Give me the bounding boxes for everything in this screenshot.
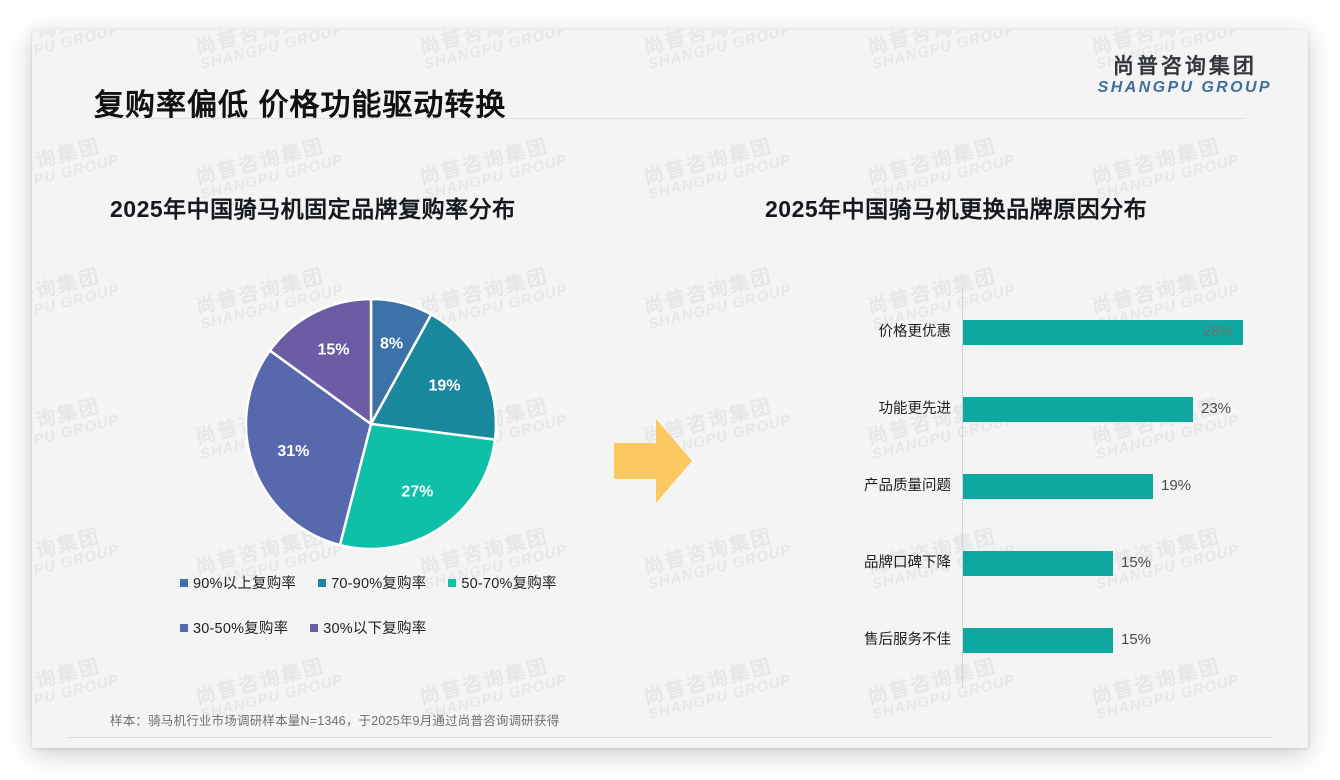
watermark-text: 尚普咨询集团SHANGPU GROUP (32, 263, 121, 334)
bar-chart-row: 售后服务不佳15% (765, 620, 1285, 660)
bar[interactable] (963, 551, 1113, 576)
legend-item-2[interactable]: 50-70%复购率 (448, 572, 556, 593)
right-arrow-icon (610, 413, 696, 514)
bar[interactable] (963, 397, 1193, 422)
right-arrow-svg (610, 413, 696, 509)
bar-chart-row: 功能更先进23% (765, 389, 1285, 429)
bar-value-label: 15% (1121, 543, 1151, 583)
legend-item-4[interactable]: 30%以下复购率 (310, 617, 426, 638)
bar-category-label: 售后服务不佳 (765, 620, 951, 660)
bar-category-label: 功能更先进 (765, 389, 951, 429)
legend-label: 50-70%复购率 (461, 572, 556, 593)
bar-chart-row: 产品质量问题19% (765, 466, 1285, 506)
left-chart-title: 2025年中国骑马机固定品牌复购率分布 (110, 190, 516, 224)
header-divider (94, 118, 1246, 119)
bar-chart: 价格更优惠28%功能更先进23%产品质量问题19%品牌口碑下降15%售后服务不佳… (765, 288, 1285, 688)
legend-label: 30-50%复购率 (193, 617, 288, 638)
pie-chart-svg: 8%19%27%31%15% (245, 298, 497, 550)
legend-item-3[interactable]: 30-50%复购率 (180, 617, 288, 638)
footnote-text: 样本：骑马机行业市场调研样本量N=1346，于2025年9月通过尚普咨询调研获得 (110, 710, 559, 729)
pie-slice-label: 27% (401, 483, 433, 500)
legend-row-2: 30-50%复购率 30%以下复购率 (180, 617, 600, 638)
logo-chinese-text: 尚普咨询集团 (1098, 56, 1272, 78)
legend-swatch-icon (180, 624, 188, 632)
legend-swatch-icon (318, 579, 326, 587)
legend-row-1: 90%以上复购率 70-90%复购率 50-70%复购率 (180, 572, 600, 593)
bar-value-label: 19% (1161, 466, 1191, 506)
watermark-text: 尚普咨询集团SHANGPU GROUP (32, 393, 121, 464)
bar-value-label: 15% (1121, 620, 1151, 660)
bar[interactable] (963, 320, 1243, 345)
bar-value-label: 28% (1203, 312, 1233, 352)
legend-label: 70-90%复购率 (331, 572, 426, 593)
legend-swatch-icon (448, 579, 456, 587)
slide-footer: ©2025.11 SHANGPU GROUP www.shangpu-china… (32, 738, 1308, 748)
legend-swatch-icon (310, 624, 318, 632)
right-chart-title: 2025年中国骑马机更换品牌原因分布 (765, 190, 1147, 224)
bar[interactable] (963, 628, 1113, 653)
slide-card: 尚普咨询集团SHANGPU GROUP尚普咨询集团SHANGPU GROUP尚普… (32, 30, 1308, 748)
logo-english-text: SHANGPU GROUP (1098, 80, 1272, 97)
legend-item-1[interactable]: 70-90%复购率 (318, 572, 426, 593)
bar-value-label: 23% (1201, 389, 1231, 429)
pie-slice-label: 8% (380, 335, 403, 352)
watermark-text: 尚普咨询集团SHANGPU GROUP (32, 653, 121, 724)
bar-category-label: 价格更优惠 (765, 312, 951, 352)
bar-category-label: 品牌口碑下降 (765, 543, 951, 583)
pie-slice-label: 31% (277, 443, 309, 460)
bar[interactable] (963, 474, 1153, 499)
watermark-text: 尚普咨询集团SHANGPU GROUP (32, 133, 121, 204)
pie-slice-label: 15% (317, 342, 349, 359)
pie-chart: 8%19%27%31%15% (245, 298, 497, 550)
pie-slice-label: 19% (428, 378, 460, 395)
pie-legend: 90%以上复购率 70-90%复购率 50-70%复购率 30-50%复购率 3… (180, 572, 600, 662)
bar-category-label: 产品质量问题 (765, 466, 951, 506)
legend-swatch-icon (180, 579, 188, 587)
bar-chart-row: 品牌口碑下降15% (765, 543, 1285, 583)
bar-chart-row: 价格更优惠28% (765, 312, 1285, 352)
slide-header: 复购率偏低 价格功能驱动转换 尚普咨询集团 SHANGPU GROUP (32, 30, 1308, 118)
legend-label: 90%以上复购率 (193, 572, 296, 593)
watermark-text: 尚普咨询集团SHANGPU GROUP (32, 523, 121, 594)
brand-logo: 尚普咨询集团 SHANGPU GROUP (1098, 56, 1272, 97)
legend-label: 30%以下复购率 (323, 617, 426, 638)
legend-item-0[interactable]: 90%以上复购率 (180, 572, 296, 593)
